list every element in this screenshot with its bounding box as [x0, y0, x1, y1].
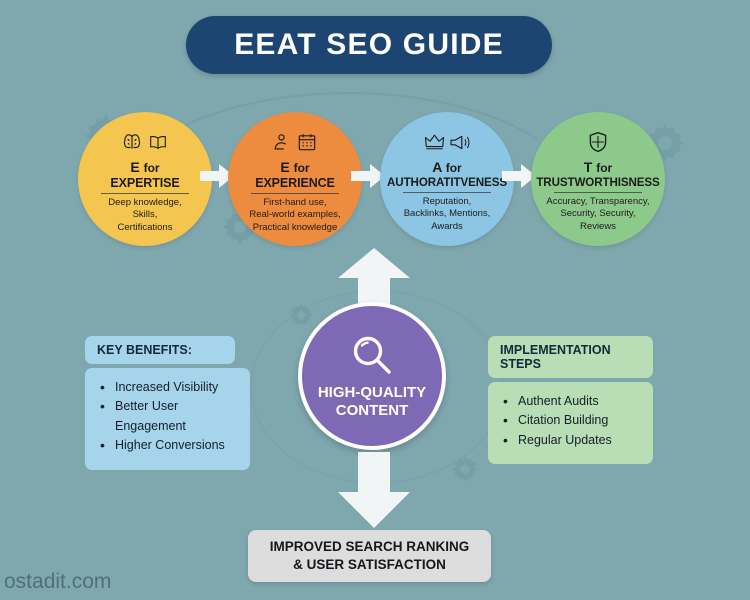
pillar-experience-heading: E for EXPERIENCE [255, 160, 335, 190]
list-item: Increased Visibility [113, 378, 238, 397]
center-high-quality-content[interactable]: HIGH-QUALITY CONTENT [298, 302, 446, 450]
outcome-box: IMPROVED SEARCH RANKING & USER SATISFACT… [248, 530, 491, 582]
pillar-connector: for [446, 161, 462, 175]
pillar-letter: A [432, 159, 442, 175]
pillar-experience-description: First-hand use, Real-world examples, Pra… [236, 197, 354, 235]
pillar-trustworthiness-heading: T for TRUSTWORTHISNESS [536, 160, 659, 189]
desc-line: Reviews [539, 221, 657, 234]
key-benefits-body: Increased Visibility Better User Engagem… [85, 368, 250, 470]
desc-line: Backlinks, Mentions, [388, 208, 506, 221]
pillar-expertise[interactable]: E for EXPERTISE Deep knowledge, Skills, … [78, 112, 212, 246]
pillar-authoritativeness-description: Reputation, Backlinks, Mentions, Awards [388, 196, 506, 234]
pillar-authoritativeness[interactable]: A for AUTHORATITVENESS Reputation, Backl… [380, 112, 514, 246]
implementation-steps-heading: IMPLEMENTATION STEPS [488, 336, 653, 378]
pillar-trustworthiness-icons [587, 126, 609, 158]
page-title: EEAT SEO GUIDE [186, 16, 552, 74]
shield-icon [587, 130, 609, 154]
list-item: Authent Audits [516, 392, 641, 411]
pillar-name: TRUSTWORTHISNESS [536, 176, 659, 189]
pillar-experience-icons [272, 126, 318, 158]
pillar-letter: E [130, 159, 139, 175]
outcome-text: IMPROVED SEARCH RANKING & USER SATISFACT… [270, 538, 470, 573]
pillar-letter: T [584, 159, 593, 175]
desc-line: First-hand use, [236, 197, 354, 210]
desc-line: Deep knowledge, [86, 197, 204, 210]
desc-line: Practical knowledge [236, 222, 354, 235]
pillar-expertise-description: Deep knowledge, Skills, Certifications [86, 197, 204, 235]
list-item: Better User Engagement [113, 397, 238, 436]
outcome-line1: IMPROVED SEARCH RANKING [270, 539, 470, 554]
list-item: Citation Building [516, 411, 641, 430]
pillar-trustworthiness-description: Accuracy, Transparency, Security, Securi… [539, 196, 657, 234]
center-label-line1: HIGH-QUALITY [318, 384, 426, 402]
pillar-name: EXPERTISE [110, 176, 179, 190]
desc-line: Skills, [86, 209, 204, 222]
watermark: ostadit.com [4, 570, 111, 594]
brain-icon [120, 132, 144, 152]
list-item: Higher Conversions [113, 436, 238, 455]
arrow-up-to-pillars [327, 248, 421, 310]
gear-icon [286, 300, 316, 330]
calendar-icon [296, 132, 318, 152]
pillar-letter: E [280, 159, 289, 175]
magnifier-icon [348, 332, 396, 380]
desc-line: Certifications [86, 222, 204, 235]
key-benefits-heading: KEY BENEFITS: [85, 336, 235, 364]
page-title-text: EEAT SEO GUIDE [234, 28, 504, 62]
crown-icon [423, 133, 446, 151]
divider [554, 192, 642, 193]
desc-line: Awards [388, 221, 506, 234]
pillar-experience[interactable]: E for EXPERIENCE First-hand use, Real-wo… [228, 112, 362, 246]
pillar-trustworthiness[interactable]: T for TRUSTWORTHISNESS Accuracy, Transpa… [531, 112, 665, 246]
divider [101, 193, 189, 194]
divider [403, 192, 491, 193]
arrow-down-to-outcome [327, 452, 421, 528]
pillar-expertise-icons [120, 126, 170, 158]
desc-line: Security, Security, [539, 208, 657, 221]
gear-icon [448, 452, 482, 486]
person-icon [272, 132, 294, 152]
pillar-authoritativeness-icons [423, 126, 471, 158]
implementation-steps-panel: IMPLEMENTATION STEPS Authent Audits Cita… [488, 336, 653, 464]
key-benefits-panel: KEY BENEFITS: Increased Visibility Bette… [85, 336, 250, 470]
center-label: HIGH-QUALITY CONTENT [318, 384, 426, 421]
divider [251, 193, 339, 194]
desc-line: Reputation, [388, 196, 506, 209]
pillar-connector: for [144, 161, 160, 175]
pillar-connector: for [596, 161, 612, 175]
list-item: Regular Updates [516, 431, 641, 450]
infographic-canvas: EEAT SEO GUIDE E for EXPERTISE Deep know… [0, 0, 750, 600]
pillar-connector: for [294, 161, 310, 175]
center-label-line2: CONTENT [318, 402, 426, 420]
implementation-steps-body: Authent Audits Citation Building Regular… [488, 382, 653, 464]
desc-line: Real-world examples, [236, 209, 354, 222]
open-book-icon [146, 133, 170, 152]
pillar-name: EXPERIENCE [255, 176, 335, 190]
pillar-expertise-heading: E for EXPERTISE [110, 160, 179, 190]
megaphone-icon [448, 133, 471, 152]
pillar-authoritativeness-heading: A for AUTHORATITVENESS [387, 160, 507, 189]
pillar-name: AUTHORATITVENESS [387, 176, 507, 189]
desc-line: Accuracy, Transparency, [539, 196, 657, 209]
outcome-line2: & USER SATISFACTION [293, 557, 446, 572]
